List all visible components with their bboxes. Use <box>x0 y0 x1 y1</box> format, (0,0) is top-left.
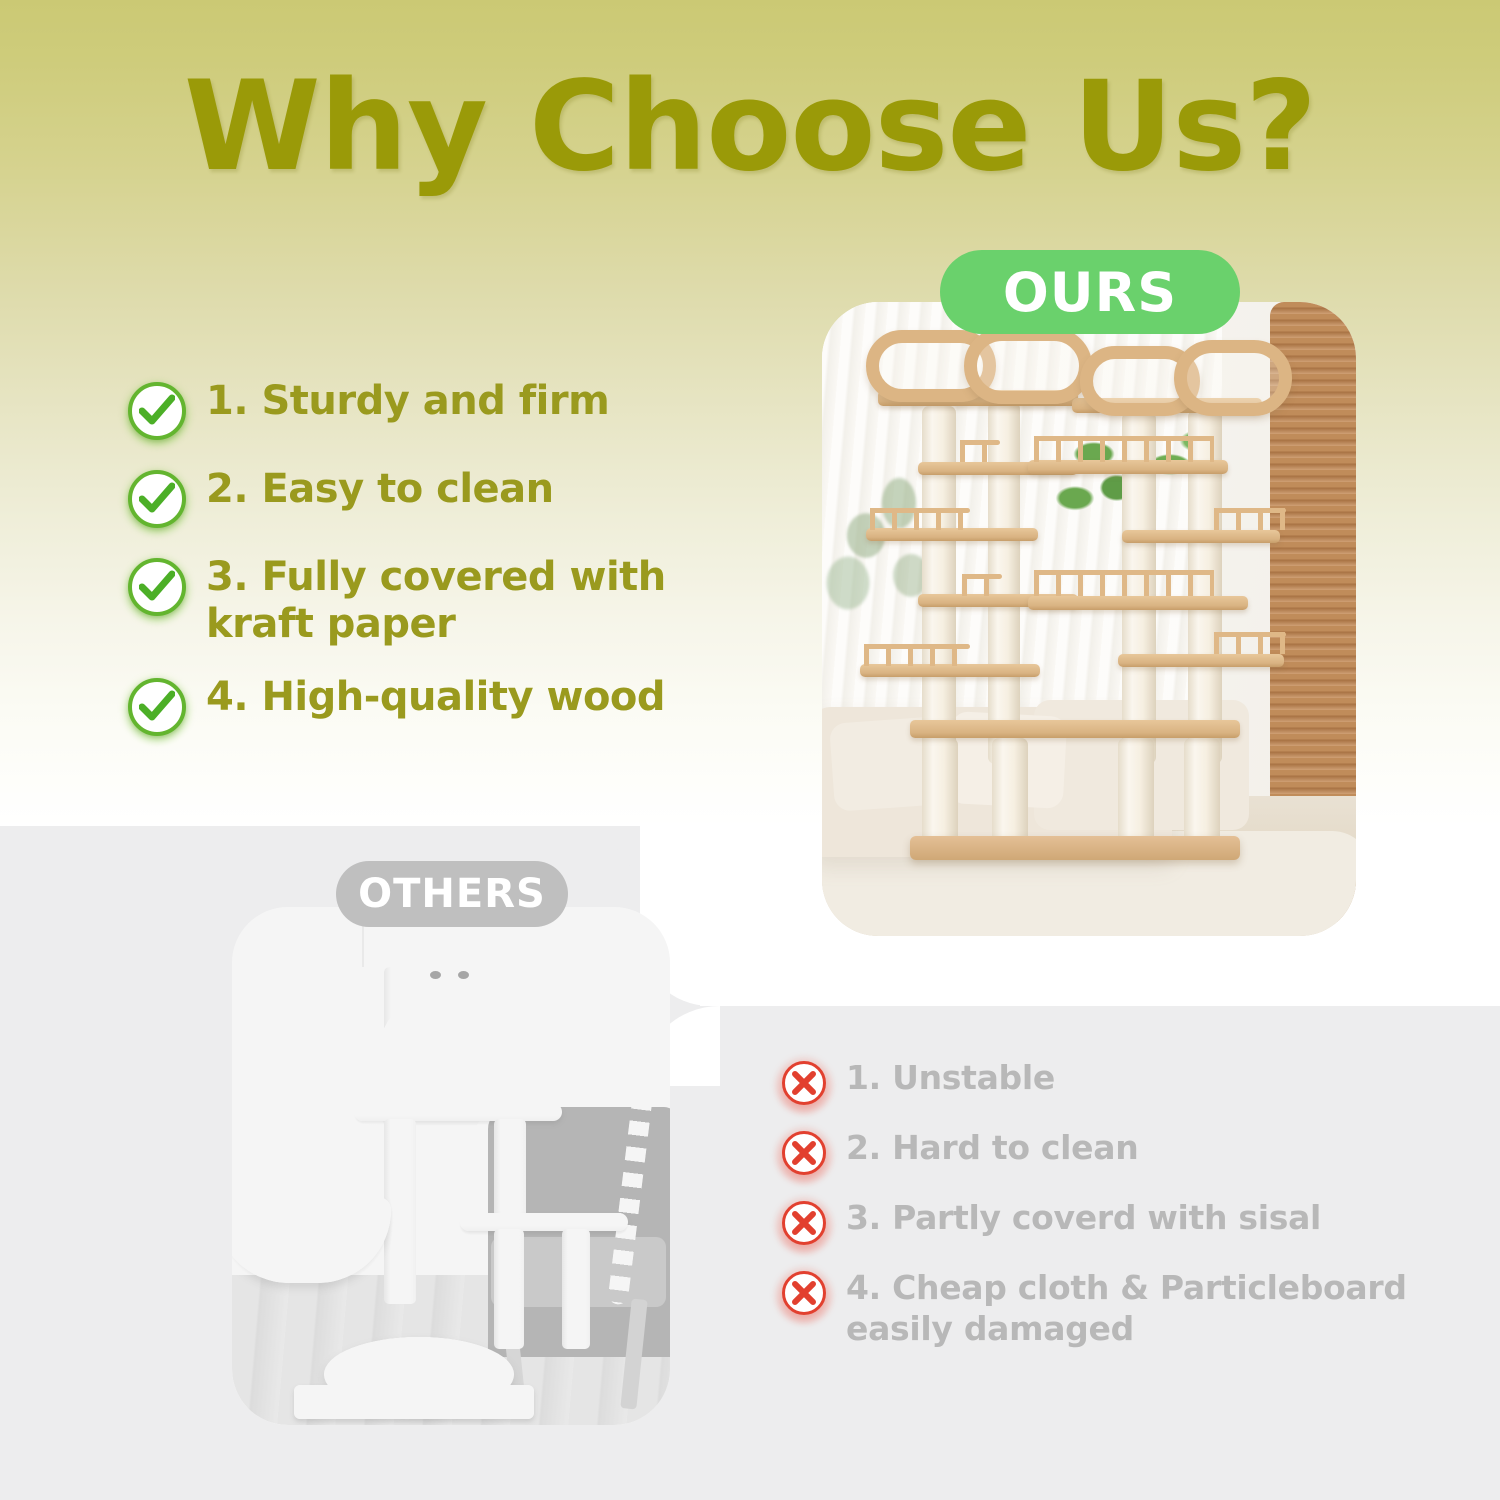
others-product-image <box>232 907 670 1425</box>
cross-circle-icon <box>782 1131 826 1175</box>
check-circle-icon <box>128 678 186 736</box>
others-badge-label: OTHERS <box>358 871 546 917</box>
page-title: Why Choose Us? <box>0 62 1500 192</box>
others-badge: OTHERS <box>336 861 568 927</box>
list-item: 1. Unstable <box>782 1058 1462 1105</box>
list-item: 4. Cheap cloth & Particleboard easily da… <box>782 1268 1462 1350</box>
list-item: 2. Easy to clean <box>128 466 768 528</box>
cross-circle-icon <box>782 1271 826 1315</box>
ours-badge: OURS <box>940 250 1240 334</box>
ours-badge-label: OURS <box>1003 261 1177 324</box>
con-text: 4. Cheap cloth & Particleboard easily da… <box>846 1268 1456 1350</box>
list-item: 1. Sturdy and firm <box>128 378 768 440</box>
list-item: 4. High-quality wood <box>128 674 768 736</box>
check-circle-icon <box>128 558 186 616</box>
pro-text: 2. Easy to clean <box>206 466 554 513</box>
list-item: 3. Partly coverd with sisal <box>782 1198 1462 1245</box>
cross-circle-icon <box>782 1201 826 1245</box>
con-text: 2. Hard to clean <box>846 1128 1138 1169</box>
con-text: 1. Unstable <box>846 1058 1055 1099</box>
check-circle-icon <box>128 470 186 528</box>
list-item: 3. Fully covered with kraft paper <box>128 554 768 648</box>
pros-list: 1. Sturdy and firm 2. Easy to clean 3. F… <box>128 378 768 762</box>
check-circle-icon <box>128 382 186 440</box>
list-item: 2. Hard to clean <box>782 1128 1462 1175</box>
pro-text: 3. Fully covered with kraft paper <box>206 554 686 648</box>
pro-text: 4. High-quality wood <box>206 674 665 721</box>
cross-circle-icon <box>782 1061 826 1105</box>
ours-product-image <box>822 302 1356 936</box>
comparison-infographic: Why Choose Us? 1. Sturdy and firm 2. Eas… <box>0 0 1500 1500</box>
cons-list: 1. Unstable 2. Hard to clean 3. Partly c… <box>782 1058 1462 1373</box>
con-text: 3. Partly coverd with sisal <box>846 1198 1321 1239</box>
pro-text: 1. Sturdy and firm <box>206 378 609 425</box>
